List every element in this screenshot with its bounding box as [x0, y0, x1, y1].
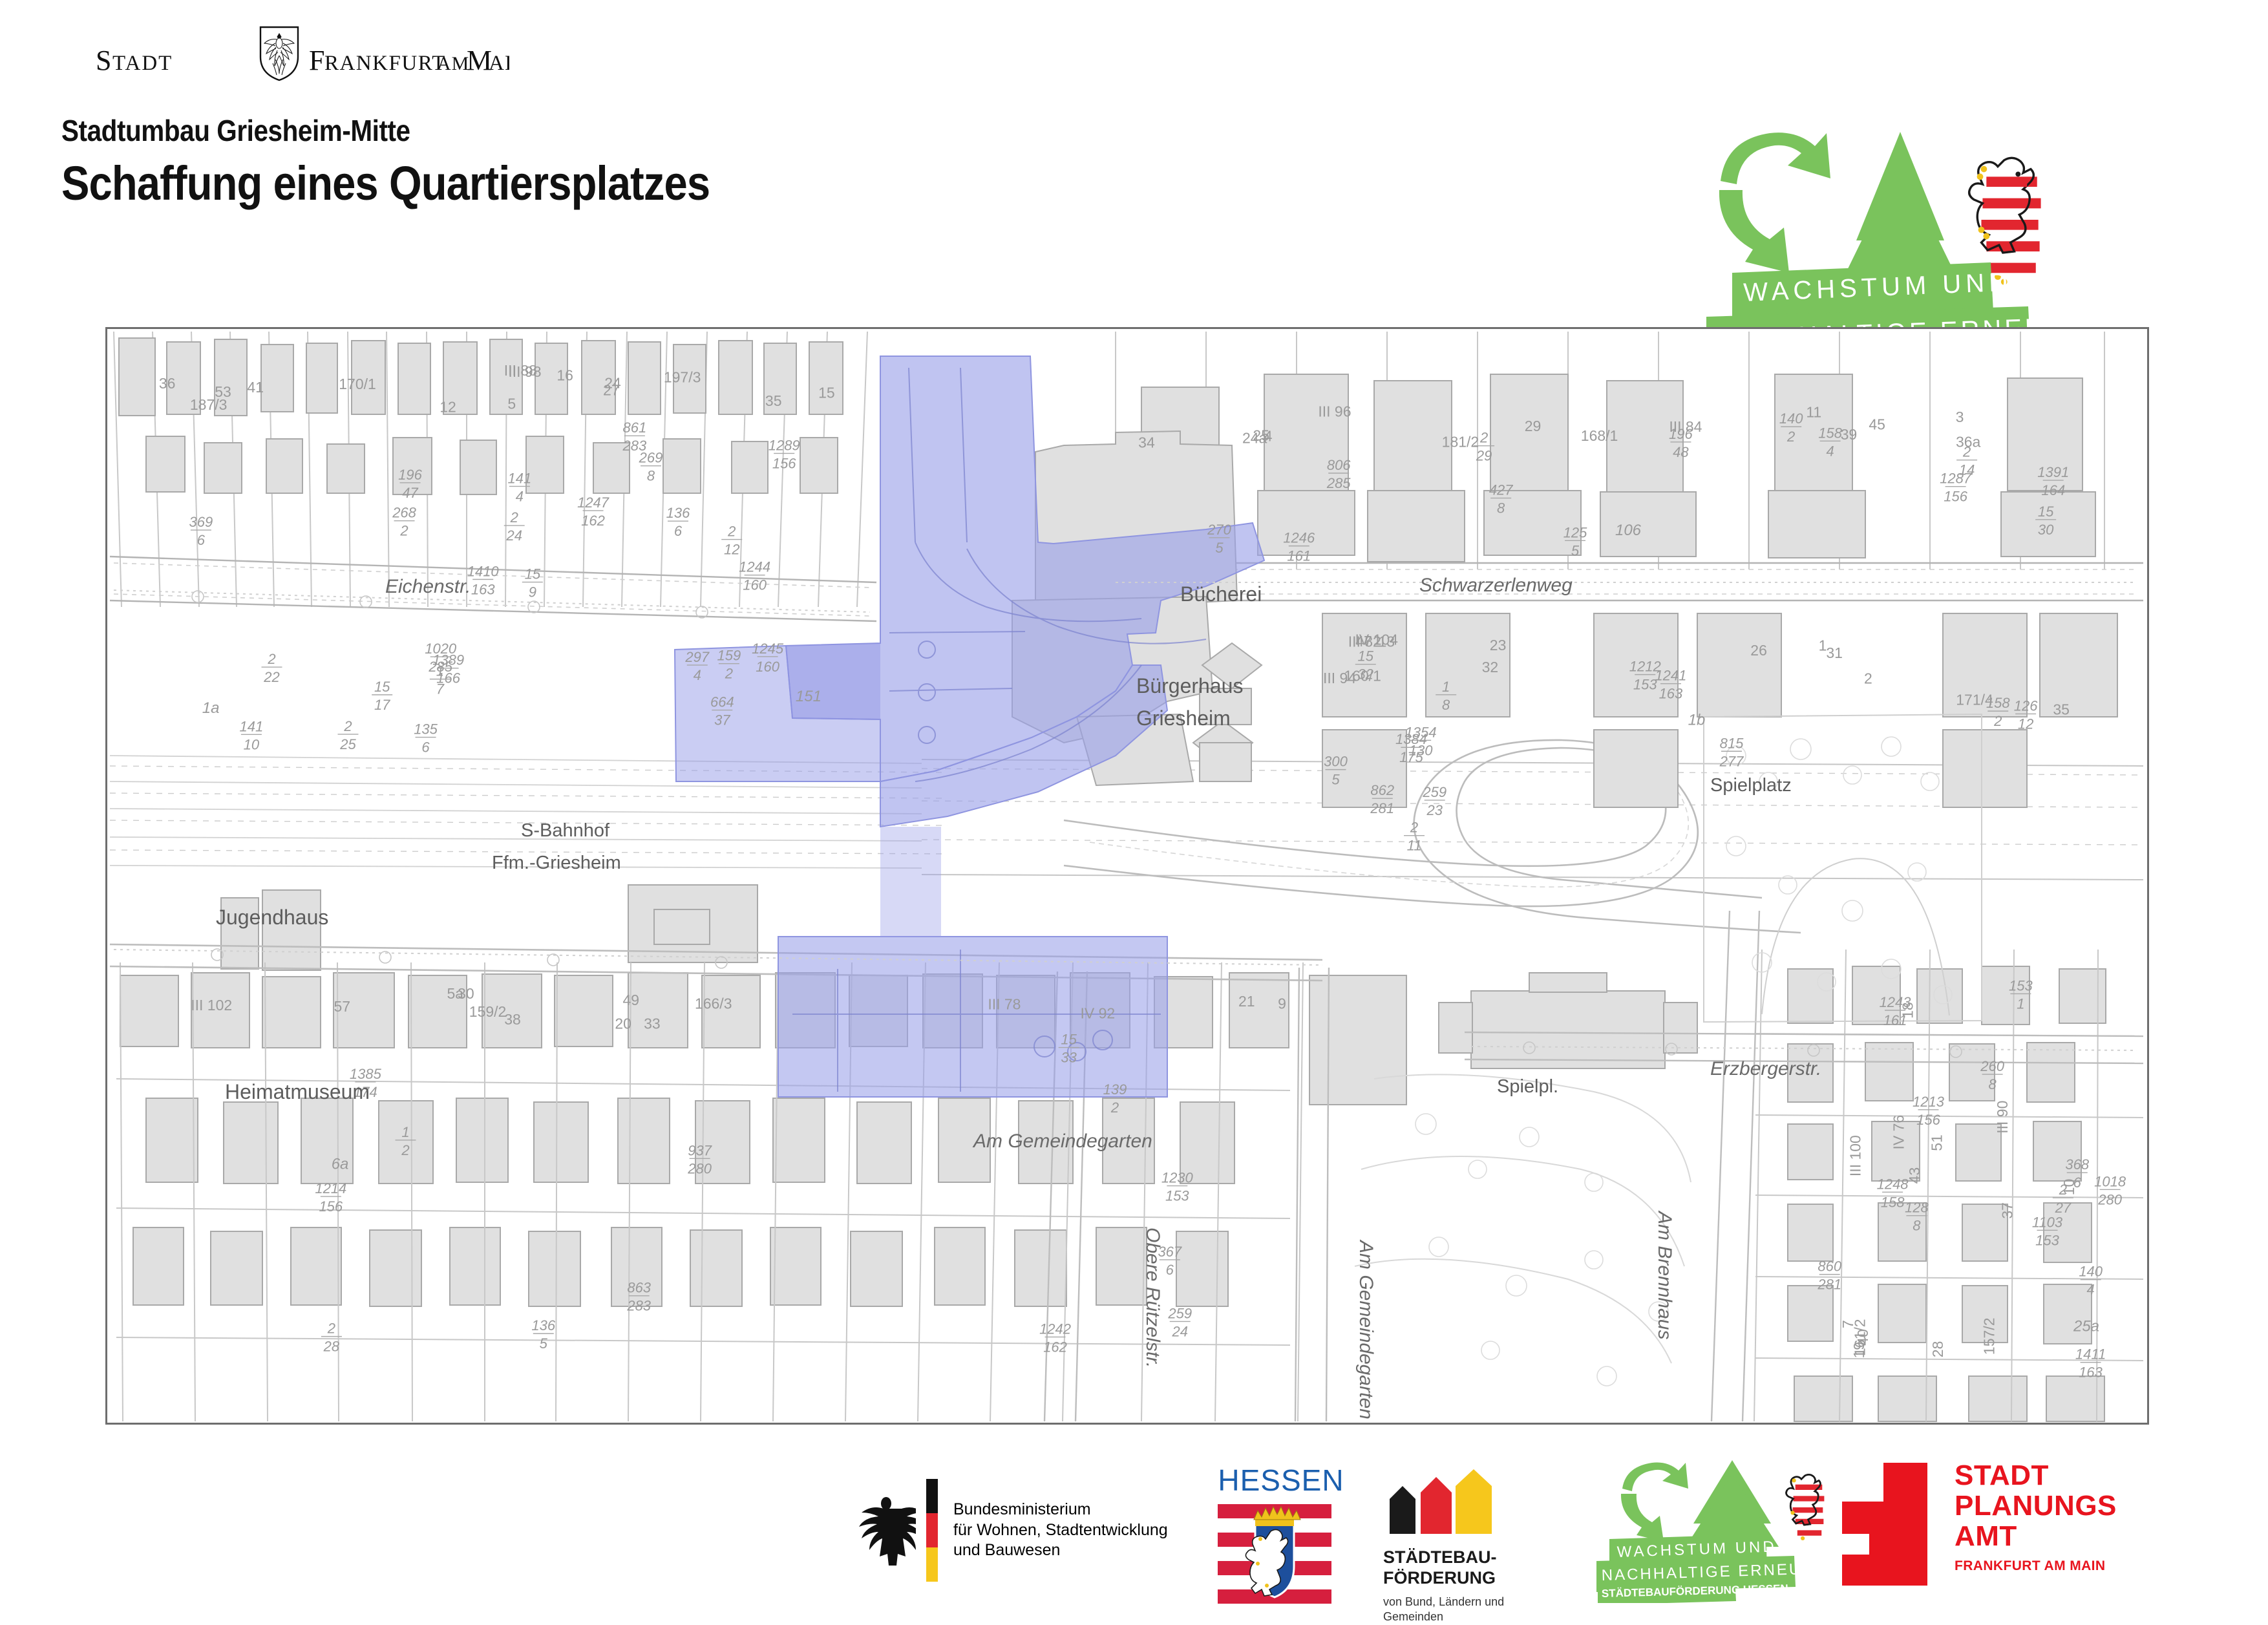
map-annotation: 2	[1864, 670, 1872, 687]
map-annotation: 1020	[425, 641, 457, 657]
map-annotation: 8	[1497, 500, 1505, 516]
map-annotation: 2	[725, 666, 733, 682]
map-annotation: 25	[1253, 427, 1269, 444]
map-annotation: 12	[2018, 716, 2033, 732]
map-annotation: 6a	[332, 1155, 349, 1173]
map-annotation: 937	[688, 1142, 712, 1158]
map-annotation: 664	[710, 694, 734, 710]
map-annotation: 153	[1633, 677, 1657, 693]
map-annotation: 39	[1841, 426, 1858, 443]
map-annotation: III 88	[504, 362, 537, 379]
map-annotation: 33	[1061, 1050, 1077, 1066]
map-annotation: 126	[2014, 697, 2038, 714]
page-title: Schaffung eines Quartiersplatzes	[61, 156, 710, 211]
map-annotation: 863	[627, 1280, 651, 1296]
three-houses-icon	[1383, 1469, 1500, 1534]
map-annotation: III 96	[1318, 403, 1351, 420]
title-block: Stadtumbau Griesheim-Mitte Schaffung ein…	[61, 113, 798, 211]
map-annotation: 368	[2065, 1156, 2089, 1173]
map-annotation: 4	[2087, 1282, 2095, 1298]
map-annotation: 14	[1959, 462, 1975, 478]
map-annotation: 427	[1489, 482, 1513, 498]
map-annotation: 4	[694, 667, 701, 683]
map-annotation: 33	[644, 1015, 661, 1032]
map-annotation: 26	[1750, 642, 1767, 659]
map-annotation: 1213	[1913, 1094, 1945, 1110]
bundesministerium-logo: Bundesministerium für Wohnen, Stadtentwi…	[856, 1458, 1244, 1603]
stadt-frankfurt-wordmark: S TADT F RANKFURT AM M AIN	[96, 40, 509, 79]
map-annotation: 860	[1818, 1259, 1841, 1275]
map-annotation: 22	[263, 669, 279, 685]
map-annotation: 2	[327, 1321, 335, 1337]
map-annotation: 25	[339, 736, 356, 752]
map-annotation: 170/1	[339, 376, 376, 392]
map-annotation: 168/1	[1581, 427, 1618, 444]
map-annotation: 862	[1370, 782, 1394, 798]
map-annotation: III 90	[1994, 1101, 2011, 1134]
map-annotation: 36a	[1956, 434, 1981, 451]
stadtplanungsamt-logo: STADT PLANUNGS AMT FRANKFURT AM MAIN	[1829, 1458, 2191, 1603]
map-annotation: 153	[2009, 977, 2033, 993]
map-annotation: 37	[714, 712, 730, 728]
spa-line3: AMT	[1955, 1521, 2117, 1551]
map-annotation: 1410	[467, 563, 500, 579]
map-annotation: 4	[516, 488, 524, 504]
map-annotation: 139	[1103, 1081, 1127, 1098]
cadastral-map[interactable]: 1366125513561354130139214041414140214110…	[105, 327, 2149, 1425]
map-annotation: 2	[1410, 820, 1418, 836]
map-annotation: 163	[471, 581, 495, 597]
map-annotation: 259	[1167, 1305, 1192, 1321]
map-annotation: 11	[1806, 403, 1821, 420]
map-annotation: 24	[1171, 1323, 1187, 1339]
map-annotation: 9	[529, 584, 536, 600]
map-annotation: 27	[603, 381, 620, 398]
map-annotation: 300	[1324, 754, 1348, 770]
map-annotation: 153	[1165, 1188, 1189, 1204]
map-annotation: 1212	[1629, 659, 1661, 675]
map-annotation: 8	[1442, 697, 1450, 713]
map-annotation: 15	[525, 566, 541, 582]
map-annotation: 57	[334, 998, 350, 1015]
map-annotation: III 84	[1669, 418, 1702, 435]
map-annotation: 156	[319, 1198, 343, 1215]
map-annotation: 45	[1869, 416, 1885, 433]
map-annotation: 2	[1479, 430, 1488, 446]
map-annotation: 128	[1905, 1200, 1929, 1216]
map-annotation: 47	[402, 485, 418, 501]
map-annotation: 1385	[350, 1066, 382, 1082]
map-annotation: 125	[1563, 524, 1587, 540]
map-annotation: 3	[1956, 409, 1964, 425]
hessen-coat-of-arms-icon	[1218, 1502, 1331, 1605]
map-annotation: 285	[1326, 475, 1351, 491]
map-annotation: 15	[2038, 504, 2054, 520]
spa-line1: STADT	[1955, 1460, 2117, 1491]
map-annotation: 156	[1916, 1112, 1940, 1128]
map-annotation: 12	[440, 398, 456, 415]
map-annotation: 1245	[752, 641, 784, 657]
map-annotation: 24	[505, 527, 522, 544]
map-annotation: 8	[1988, 1076, 1997, 1092]
map-annotation: 140	[1779, 410, 1803, 427]
map-annotation: 196	[398, 467, 422, 483]
map-annotation: III 82	[1348, 633, 1381, 650]
map-annotation: 151	[796, 688, 821, 705]
map-annotation: 1214	[315, 1180, 346, 1196]
map-annotation: 8	[1913, 1218, 1921, 1234]
map-annotation: 141	[508, 470, 532, 486]
map-annotation: 49	[622, 992, 639, 1008]
map-annotation: III 100	[1847, 1135, 1863, 1176]
map-annotation: 171/4	[1956, 691, 1993, 708]
map-annotation: 15	[1358, 648, 1374, 664]
map-annotation: 160	[756, 659, 779, 675]
map-annotation: 1	[436, 663, 444, 679]
bmwsb-line1: Bundesministerium	[953, 1500, 1168, 1520]
map-annotation: 30	[2038, 522, 2054, 538]
staedtebaufoerderung-logo: STÄDTEBAU- FÖRDERUNG von Bund, Ländern u…	[1383, 1458, 1596, 1603]
map-annotation: 297	[684, 649, 709, 665]
map-annotation: 8	[647, 468, 655, 484]
map-annotation: 51	[1928, 1134, 1945, 1151]
map-annotation: 159	[717, 648, 741, 664]
map-annotation: 140	[2079, 1264, 2103, 1280]
map-annotation: 1244	[739, 559, 770, 575]
map-annotation: 269	[639, 450, 663, 466]
map-annotation: 6	[197, 532, 206, 548]
spa-line2: PLANUNGS	[1955, 1491, 2117, 1521]
staedtebau-sub2: Gemeinden	[1383, 1609, 1596, 1624]
map-annotation: 5	[1215, 540, 1224, 556]
svg-text:AIN: AIN	[489, 52, 509, 75]
hessen-logo: HESSEN	[1203, 1458, 1359, 1603]
map-annotation: 156	[772, 455, 796, 471]
map-annotation: 2	[401, 1142, 409, 1158]
map-annotation: 2	[510, 509, 518, 526]
svg-text:RANKFURT: RANKFURT	[324, 52, 446, 75]
map-annotation: 6	[674, 523, 683, 539]
map-annotation: 1	[2017, 995, 2024, 1012]
map-annotation: 43	[1906, 1167, 1923, 1184]
map-annotation: III 78	[988, 996, 1021, 1013]
map-annotation: 6	[421, 739, 430, 756]
map-annotation: 1230	[1161, 1170, 1194, 1186]
map-annotation: 157/2	[1980, 1318, 1997, 1355]
staedtebau-line1: STÄDTEBAU-	[1383, 1547, 1596, 1568]
map-annotation: 2	[1110, 1099, 1119, 1116]
map-annotation: 16	[556, 367, 573, 384]
map-annotation: 259	[1422, 784, 1447, 800]
map-annotation: 280	[687, 1160, 712, 1176]
map-annotation: 41	[247, 379, 264, 396]
funding-logo-bar: Bundesministerium für Wohnen, Stadtentwi…	[0, 1458, 2268, 1603]
map-annotation: 1	[401, 1124, 409, 1140]
map-annotation: 37	[1998, 1202, 2015, 1219]
spa-subtitle: FRANKFURT AM MAIN	[1955, 1558, 2117, 1574]
map-annotation: 10	[2061, 1179, 2077, 1196]
german-flag-bar	[926, 1479, 938, 1582]
map-annotation: 160	[743, 577, 767, 593]
map-annotation: 7	[436, 681, 445, 697]
map-annotation: 1242	[1039, 1321, 1071, 1337]
map-annotation: 32	[1482, 659, 1499, 675]
map-annotation: 163	[1659, 686, 1683, 702]
map-annotation: 1246	[1283, 530, 1315, 546]
bundesadler-icon	[856, 1489, 916, 1572]
map-annotation: 369	[189, 514, 213, 530]
map-annotation: 2	[727, 524, 736, 540]
map-annotation: IV 76	[1891, 1115, 1907, 1150]
map-annotation: 158	[1818, 425, 1842, 441]
svg-text:F: F	[309, 45, 324, 76]
hessen-wordmark: HESSEN	[1203, 1463, 1359, 1498]
map-annotation: 161	[1287, 548, 1311, 564]
map-annotation: 34	[1138, 434, 1155, 451]
svg-text:S: S	[96, 45, 112, 76]
map-annotation: 136	[531, 1317, 555, 1333]
map-annotation: 25a	[2073, 1318, 2099, 1335]
map-annotation: 153	[2035, 1232, 2059, 1248]
map-annotation: 28	[323, 1339, 340, 1355]
map-annotation: 106	[1615, 522, 1642, 539]
map-annotation: 15	[1061, 1032, 1077, 1048]
map-annotation: 367	[1158, 1244, 1182, 1260]
map-annotation: 260	[1980, 1058, 2004, 1074]
map-annotation: 159/2	[469, 1003, 507, 1020]
map-annotation: 18	[1900, 1002, 1916, 1019]
map-annotation: 23	[1426, 802, 1443, 818]
page-header: S TADT F RANKFURT AM M AIN	[0, 0, 2268, 323]
map-annotation: 1289	[768, 437, 800, 453]
map-annotation: 35	[765, 392, 782, 409]
map-annotation: 1103	[2032, 1214, 2063, 1230]
map-annotation: 270	[1207, 522, 1231, 538]
map-annotation: 1a	[202, 699, 220, 717]
stadtplanungsamt-mark-icon	[1829, 1463, 1933, 1586]
map-annotation: 136	[666, 505, 690, 521]
map-annotation: 283	[626, 1298, 651, 1314]
map-annotation: 2	[267, 651, 275, 667]
map-annotation: 280	[2097, 1191, 2122, 1207]
svg-text:AM: AM	[437, 53, 469, 74]
map-annotation: 48	[1673, 444, 1689, 460]
map-annotation: 815	[1720, 735, 1744, 751]
map-annotation: 29	[1525, 418, 1542, 434]
map-annotation: 23	[1490, 637, 1507, 653]
map-annotation: 166/3	[695, 995, 732, 1012]
map-annotation: 156	[1944, 489, 1967, 505]
map-annotation: 36	[159, 375, 176, 392]
map-annotation: 35	[2053, 701, 2070, 717]
map-annotation: 20	[615, 1015, 631, 1032]
map-annotation: 5	[540, 1335, 548, 1352]
staedtebau-line2: FÖRDERUNG	[1383, 1568, 1596, 1589]
map-annotation: 160/1	[1344, 667, 1381, 684]
map-annotation: 162	[581, 513, 605, 529]
map-annotation: 1411	[2075, 1346, 2106, 1363]
map-annotation: 21	[1238, 993, 1255, 1010]
map-annotation: 2	[1993, 713, 2002, 729]
map-annotation: 15	[818, 385, 835, 401]
project-subtitle: Stadtumbau Griesheim-Mitte	[61, 113, 710, 148]
map-annotation: 164	[2041, 482, 2065, 498]
map-annotation: 135	[414, 721, 438, 738]
map-annotation: III 102	[191, 997, 232, 1014]
map-annotation: 28	[1929, 1341, 1946, 1358]
staedtebau-sub1: von Bund, Ländern und	[1383, 1595, 1596, 1609]
map-annotation: 5	[1331, 772, 1340, 788]
map-annotation: 5	[1571, 542, 1580, 558]
map-annotation: 187/3	[190, 396, 228, 413]
map-annotation: 27	[2055, 1200, 2072, 1216]
map-annotation: 2	[1786, 429, 1795, 445]
frankfurt-eagle-crest-icon	[259, 26, 300, 81]
map-annotation: 175	[1399, 749, 1423, 765]
map-drawing: 1366125513561354130139214041414140214110…	[107, 329, 2147, 1423]
map-annotation: 268	[392, 505, 416, 521]
map-annotation: 1247	[577, 494, 609, 511]
map-annotation: 197/3	[664, 369, 701, 386]
map-annotation: 1b	[1688, 712, 1706, 729]
map-annotation: 15	[374, 679, 390, 695]
map-annotation: 161/2	[1852, 1319, 1869, 1356]
map-annotation: 861	[623, 420, 647, 436]
map-annotation: 158	[1881, 1194, 1905, 1210]
svg-text:TADT: TADT	[112, 52, 173, 75]
map-annotation: 163	[2079, 1365, 2103, 1381]
map-annotation: 11	[1407, 838, 1422, 854]
map-annotation: 277	[1719, 753, 1744, 769]
map-annotation: 17	[374, 697, 390, 713]
map-annotation: 1391	[2037, 464, 2069, 480]
map-annotation: 181/2	[1442, 433, 1479, 450]
bmwsb-line3: und Bauwesen	[953, 1540, 1168, 1561]
map-annotation: 806	[1327, 457, 1351, 473]
bmwsb-line2: für Wohnen, Stadtentwicklung	[953, 1520, 1168, 1541]
map-annotation: 2	[343, 718, 352, 734]
map-annotation: 1018	[2094, 1173, 2126, 1189]
map-annotation: 30	[458, 985, 474, 1002]
map-annotation: 10	[244, 736, 260, 752]
map-annotation: 162	[1043, 1339, 1067, 1355]
map-annotation: 174	[354, 1084, 377, 1100]
map-annotation: 1248	[1877, 1176, 1909, 1192]
map-annotation: 4	[1827, 443, 1834, 459]
map-annotation: 281	[1817, 1277, 1841, 1293]
map-annotation: 1384	[1395, 731, 1427, 747]
map-annotation: 12	[724, 542, 739, 558]
map-annotation: IV 92	[1080, 1004, 1115, 1021]
map-annotation: 2	[399, 523, 408, 539]
map-annotation: 31	[1826, 644, 1843, 661]
map-annotation: 1	[1442, 679, 1450, 695]
stadt-frankfurt-logo: S TADT F RANKFURT AM M AIN	[96, 32, 509, 84]
map-annotation: 9	[1278, 995, 1286, 1012]
map-annotation: 281	[1370, 800, 1394, 816]
map-annotation: 6	[1166, 1262, 1174, 1278]
map-annotation: 141	[240, 718, 264, 734]
map-annotation: 5	[507, 396, 516, 412]
map-annotation: 38	[504, 1011, 521, 1028]
